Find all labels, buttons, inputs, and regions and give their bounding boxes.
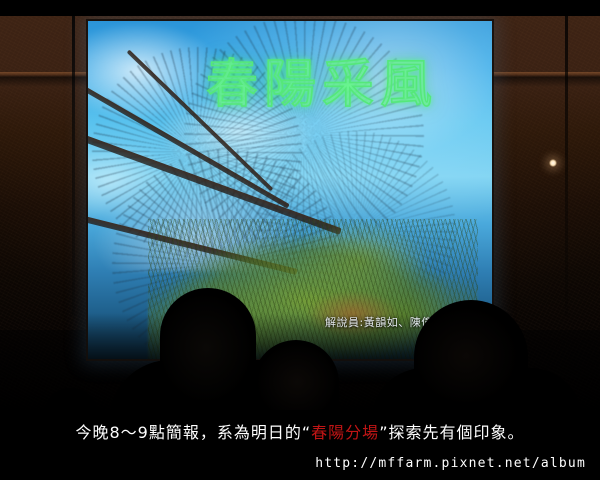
wall-seam-right	[565, 16, 568, 316]
caption-part-1: 今晚8～9點簡報，系為明日的	[76, 423, 302, 442]
projection-screen: 春陽采風 解說員:黃韻如、陳億	[88, 21, 492, 359]
caption: 今晚8～9點簡報，系為明日的“春陽分場”探索先有個印象。	[0, 422, 600, 444]
watermark-url: http://mffarm.pixnet.net/album	[315, 456, 586, 472]
wall-seam-left	[72, 16, 75, 316]
caption-part-2: 探索先有個印象。	[388, 423, 524, 442]
slide-title: 春陽采風	[206, 59, 438, 111]
caption-quote-open: “	[302, 423, 311, 442]
caption-highlight: 春陽分場	[311, 423, 379, 442]
audience-head-right	[414, 300, 528, 412]
photo-frame: 春陽采風 解說員:黃韻如、陳億 今晚8～9點簡報，系為明日的“春陽分場”探索先有…	[0, 0, 600, 480]
slide-credit-line: 解說員:黃韻如、陳億	[325, 317, 433, 329]
wall-light-dot	[549, 159, 557, 167]
audience-head-left	[160, 288, 256, 408]
letterbox-band-top	[0, 0, 600, 16]
audience-head-middle	[253, 340, 339, 416]
